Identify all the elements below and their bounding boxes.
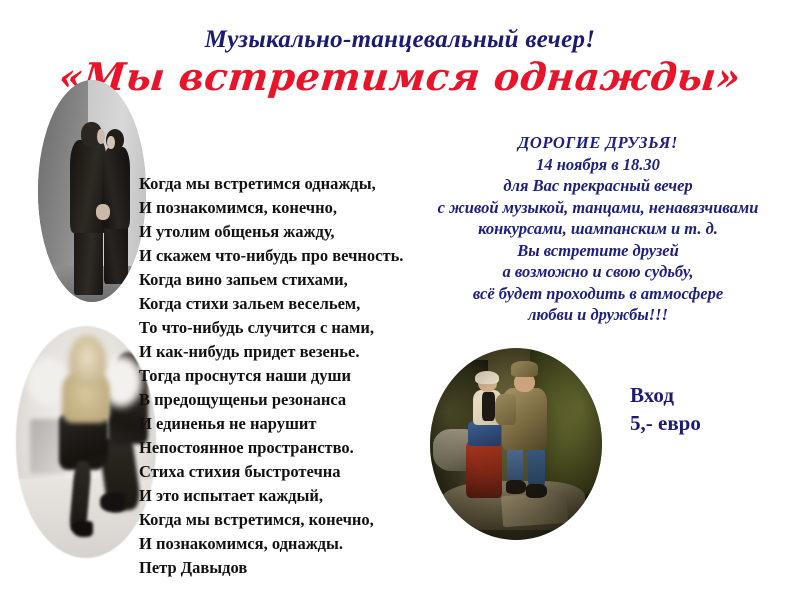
entry-price-block: Вход 5,- евро — [630, 381, 701, 437]
announcement-block: ДОРОГИЕ ДРУЗЬЯ! 14 ноября в 18.30 для Ва… — [396, 132, 800, 326]
photo-man-face — [97, 129, 105, 145]
poem-author: Петр Давыдов — [139, 556, 439, 580]
poem-line: И познакомимся, однажды. — [139, 532, 439, 556]
poem-line: И как-нибудь придет везенье. — [139, 340, 439, 364]
photo-woman-skirt — [104, 222, 128, 284]
dancers-woman-shoe — [72, 521, 93, 537]
announcement-line: ДОРОГИЕ ДРУЗЬЯ! — [396, 132, 800, 154]
headline-subtitle: Музыкально-танцевальный вечер! — [0, 26, 800, 53]
announcement-line: а возможно и свою судьбу, — [396, 261, 800, 283]
photo-woman-face — [107, 136, 115, 149]
poem-block: Когда мы встретимся однажды, И познакоми… — [139, 172, 439, 580]
announcement-line: 14 ноября в 18.30 — [396, 154, 800, 176]
poem-line: И утолим общенья жажду, — [139, 220, 439, 244]
poem-line: И единенья не нарушит — [139, 412, 439, 436]
announcement-line: с живой музыкой, танцами, ненавязчивами — [396, 197, 800, 219]
event-poster: Музыкально-танцевальный вечер! «Мы встре… — [0, 0, 800, 600]
photo-dancers-blur — [16, 326, 156, 558]
announcement-line: Вы встретите друзей — [396, 240, 800, 262]
dancers-man-shoe — [100, 493, 125, 512]
poem-line: Стиха стихия быстротечна — [139, 460, 439, 484]
painting-vignette — [430, 348, 602, 540]
poem-line: И это испытает каждый, — [139, 484, 439, 508]
poem-line: Когда стихи зальем весельем, — [139, 292, 439, 316]
photo-painting-oval — [430, 348, 602, 540]
entry-label: Вход — [630, 381, 701, 409]
entry-price: 5,- евро — [630, 409, 701, 437]
photo-couple-bw — [38, 80, 146, 302]
dancers-woman-hair — [69, 335, 105, 386]
poem-line: То что-нибудь случится с нами, — [139, 316, 439, 340]
announcement-line: всё будет проходить в атмосфере — [396, 283, 800, 305]
photo-man-legs — [74, 227, 103, 296]
poem-line: И познакомимся, конечно, — [139, 196, 439, 220]
poem-line: Тогда проснутся наши души — [139, 364, 439, 388]
poem-line: Когда мы встретимся, конечно, — [139, 508, 439, 532]
announcement-line: конкурсами, шампанским и т. д. — [396, 218, 800, 240]
poem-line: В предощущеньи резонанса — [139, 388, 439, 412]
photo-held-hands — [96, 204, 110, 220]
announcement-line: любви и дружбы!!! — [396, 304, 800, 326]
poem-line: И скажем что-нибудь про вечность. — [139, 244, 439, 268]
poem-line: Когда мы встретимся однажды, — [139, 172, 439, 196]
announcement-line: для Вас прекрасный вечер — [396, 175, 800, 197]
poem-line: Когда вино запьем стихами, — [139, 268, 439, 292]
poem-line: Непостоянное пространство. — [139, 436, 439, 460]
